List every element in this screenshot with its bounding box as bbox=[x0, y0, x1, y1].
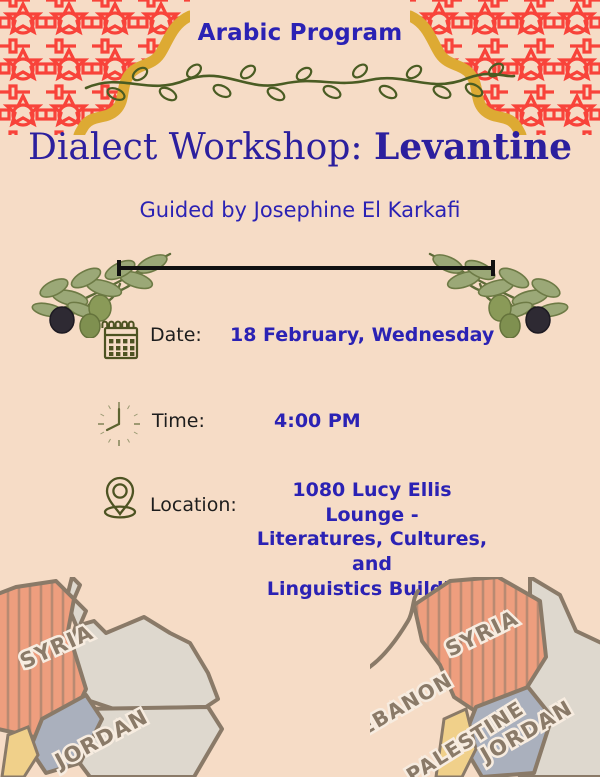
location-line-3: Linguistics Building bbox=[254, 577, 490, 602]
map-label-palestine-right: PALESTINE bbox=[402, 696, 528, 777]
vine-divider bbox=[82, 58, 518, 106]
map-label-syria-left: SYRIA bbox=[16, 620, 97, 674]
section-divider-rule bbox=[116, 258, 496, 278]
spacer-date-time bbox=[0, 380, 600, 398]
time-label: Time: bbox=[152, 398, 222, 432]
program-title: Arabic Program bbox=[0, 20, 600, 46]
page-title: Dialect Workshop: Levantine bbox=[0, 126, 600, 168]
location-line-1: 1080 Lucy Ellis Lounge - bbox=[254, 478, 490, 527]
detail-row-date: Date: 18 February, Wednesday bbox=[0, 318, 600, 380]
map-label-jordan-left: JORDAN bbox=[49, 704, 152, 774]
location-label: Location: bbox=[150, 472, 254, 516]
location-pin-icon bbox=[0, 472, 150, 524]
calendar-icon bbox=[0, 318, 150, 362]
map-label-syria-right: SYRIA bbox=[442, 606, 523, 662]
spacer-time-location bbox=[0, 460, 600, 472]
presenter-subtitle: Guided by Josephine El Karkafi bbox=[0, 198, 600, 222]
map-illustration-left: SYRIA JORDAN bbox=[0, 577, 294, 777]
clock-icon bbox=[0, 398, 152, 450]
map-illustration-right: SYRIA LEBANON PALESTINE JORDAN bbox=[370, 577, 600, 777]
map-label-jordan-right: JORDAN bbox=[475, 695, 577, 768]
location-line-2: Literatures, Cultures, and bbox=[254, 527, 490, 576]
detail-row-time: Time: 4:00 PM bbox=[0, 398, 600, 460]
detail-row-location: Location: 1080 Lucy Ellis Lounge - Liter… bbox=[0, 472, 600, 601]
date-value: 18 February, Wednesday bbox=[230, 318, 494, 348]
time-value: 4:00 PM bbox=[274, 398, 361, 434]
map-label-lebanon-right: LEBANON bbox=[370, 667, 457, 747]
page-title-main: Dialect Workshop: bbox=[28, 127, 374, 168]
location-value: 1080 Lucy Ellis Lounge - Literatures, Cu… bbox=[254, 472, 490, 601]
date-label: Date: bbox=[150, 318, 220, 346]
page-title-accent: Levantine bbox=[374, 126, 572, 168]
event-details: Date: 18 February, Wednesday bbox=[0, 318, 600, 601]
poster-canvas: Arabic Program bbox=[0, 0, 600, 777]
